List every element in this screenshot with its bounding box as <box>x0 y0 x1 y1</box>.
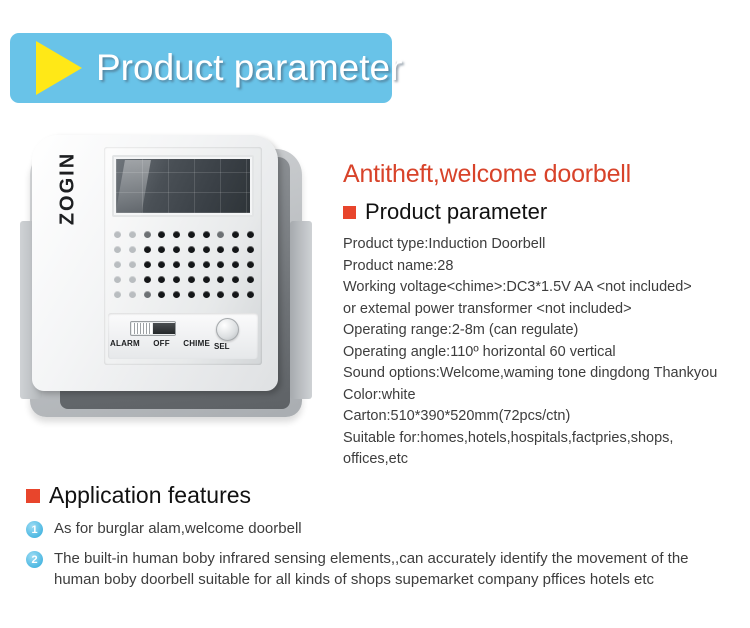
spec-line: Operating range:2-8m (can regulate) <box>343 320 743 342</box>
list-item: 2 The built-in human boby infrared sensi… <box>26 548 726 590</box>
switch-labels: ALARM OFF CHIME <box>110 339 210 348</box>
switch-label-off: OFF <box>153 339 170 348</box>
speaker-grille <box>114 231 254 295</box>
number-badge-icon: 1 <box>26 521 43 538</box>
spec-line: Sound options:Welcome,waming tone dingdo… <box>343 363 743 385</box>
feature-text: As for burglar alam,welcome doorbell <box>54 518 302 539</box>
banner-title: Product parameter <box>96 47 402 89</box>
pir-sensor-window <box>112 155 254 217</box>
spec-line: Product type:Induction Doorbell <box>343 234 743 256</box>
spec-line: or extemal power transformer <not includ… <box>343 299 743 321</box>
grille-row <box>114 261 254 268</box>
application-features-section: Application features 1 As for burglar al… <box>26 482 726 590</box>
sel-button-label: SEL <box>214 342 230 351</box>
grille-row <box>114 291 254 298</box>
doorbell-body: ZOGIN <box>32 135 278 391</box>
switch-label-chime: CHIME <box>183 339 210 348</box>
product-parameter-banner: Product parameter <box>10 33 392 103</box>
sel-button[interactable] <box>216 318 239 341</box>
grille-row <box>114 246 254 253</box>
spec-line: offices,etc <box>343 449 743 471</box>
control-panel: ALARM OFF CHIME SEL <box>108 313 258 359</box>
spec-line: Operating angle:110º horizontal 60 verti… <box>343 342 743 364</box>
spec-line: Product name:28 <box>343 256 743 278</box>
red-square-bullet-icon <box>26 489 40 503</box>
product-title: Antitheft,welcome doorbell <box>343 160 743 189</box>
product-image: ZOGIN <box>12 133 322 435</box>
slider-ridges <box>132 323 152 334</box>
feature-text: The built-in human boby infrared sensing… <box>54 548 726 590</box>
play-triangle-icon <box>36 41 82 95</box>
grille-row <box>114 276 254 283</box>
red-square-bullet-icon <box>343 206 356 219</box>
list-item: 1 As for burglar alam,welcome doorbell <box>26 518 726 539</box>
slider-knob[interactable] <box>153 323 175 334</box>
features-heading: Application features <box>26 482 726 509</box>
specifications-column: Antitheft,welcome doorbell Product param… <box>343 160 743 471</box>
switch-label-alarm: ALARM <box>110 339 140 348</box>
spec-line: Color:white <box>343 385 743 407</box>
mode-slider-switch[interactable] <box>130 321 176 336</box>
spec-line: Suitable for:homes,hotels,hospitals,fact… <box>343 428 743 450</box>
spec-line: Carton:510*390*520mm(72pcs/ctn) <box>343 406 743 428</box>
number-badge-icon: 2 <box>26 551 43 568</box>
spec-heading-label: Product parameter <box>365 199 547 225</box>
bracket-wing-right <box>290 221 312 399</box>
spec-line: Working voltage<chime>:DC3*1.5V AA <not … <box>343 277 743 299</box>
features-heading-label: Application features <box>49 482 251 509</box>
grille-row <box>114 231 254 238</box>
spec-heading: Product parameter <box>343 199 743 225</box>
brand-logo: ZOGIN <box>57 145 80 233</box>
doorbell-front-panel: ALARM OFF CHIME SEL <box>104 147 262 365</box>
